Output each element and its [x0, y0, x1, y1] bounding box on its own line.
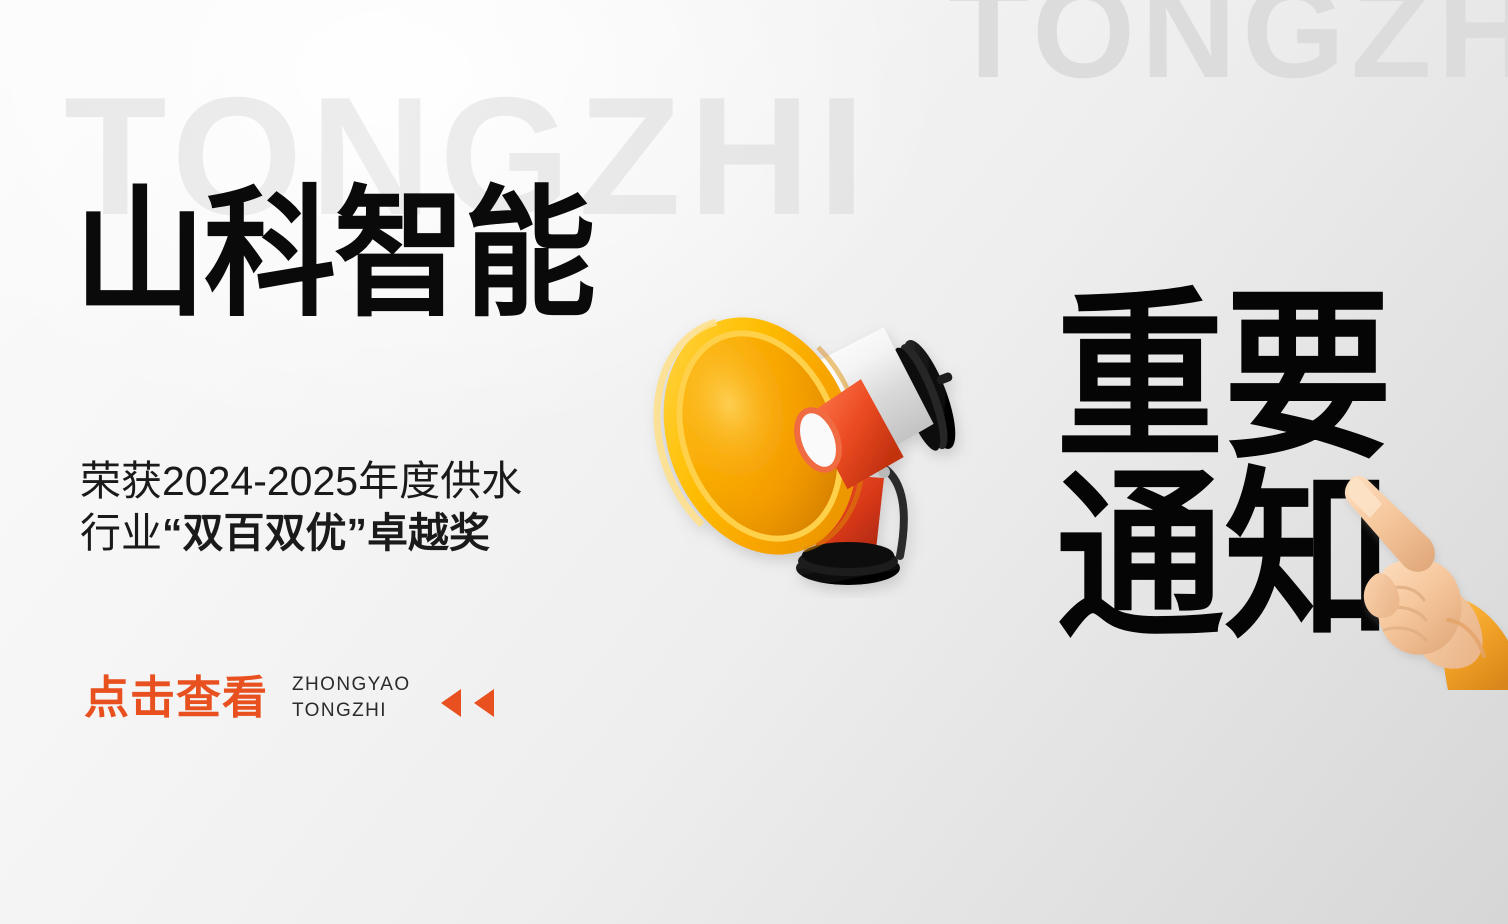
award-subtitle-prefix: 行业: [80, 510, 162, 556]
notice-banner: TONGZHI TONGZHI 山科智能 荣获2024-2025年度供水 行业“…: [0, 0, 1508, 924]
cta-arrow-group[interactable]: [441, 689, 494, 717]
cta-pinyin: ZHONGYAO TONGZHI: [292, 672, 411, 723]
triangle-left-icon[interactable]: [474, 689, 494, 717]
cta-pinyin-line-2: TONGZHI: [292, 698, 411, 724]
triangle-left-icon[interactable]: [441, 689, 461, 717]
megaphone-icon: [612, 268, 1012, 598]
cta-pinyin-line-1: ZHONGYAO: [292, 672, 411, 698]
award-subtitle-suffix: 卓越奖: [367, 510, 490, 556]
cta-row[interactable]: 点击查看 ZHONGYAO TONGZHI: [84, 672, 494, 723]
background-watermark-top: TONGZHI: [948, 0, 1508, 98]
pointing-hand-icon: [1330, 470, 1508, 690]
award-subtitle: 荣获2024-2025年度供水 行业“双百双优”卓越奖: [80, 455, 522, 560]
cta-label[interactable]: 点击查看: [84, 675, 268, 720]
award-subtitle-line-2: 行业“双百双优”卓越奖: [80, 507, 522, 559]
headline-line-1: 重要: [1056, 288, 1392, 467]
left-content-column: 山科智能 荣获2024-2025年度供水 行业“双百双优”卓越奖 点击查看 ZH…: [0, 0, 640, 924]
brand-title: 山科智能: [74, 183, 594, 327]
award-subtitle-line-1: 荣获2024-2025年度供水: [80, 455, 522, 507]
award-subtitle-emphasis: “双百双优”: [162, 510, 367, 556]
